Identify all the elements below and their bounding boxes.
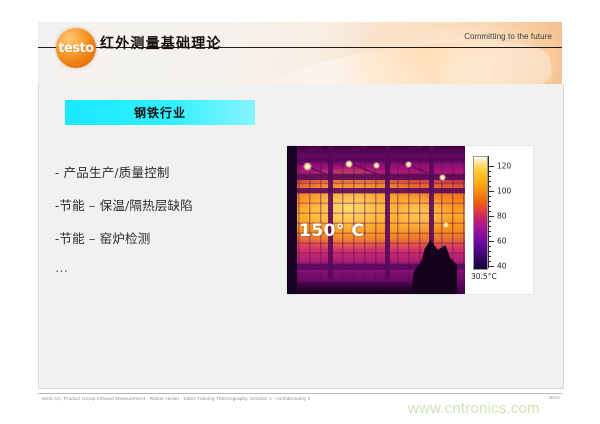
hot-spot	[373, 162, 380, 169]
scale-tick-label: 100	[497, 187, 511, 196]
scale-tick-major	[488, 241, 494, 242]
section-banner: 钢铁行业	[65, 100, 255, 125]
temperature-scale: 120 100 80 60	[465, 146, 533, 294]
logo-rule-left	[38, 47, 54, 48]
scale-tick-minor	[488, 261, 491, 262]
slide-header: Committing to the future testo	[38, 22, 562, 84]
list-item: …	[55, 261, 285, 276]
scale-tick-minor	[488, 246, 491, 247]
facade-column	[385, 146, 390, 278]
thermal-image: 150° C	[287, 146, 465, 294]
scale-tick-label: 80	[497, 212, 507, 221]
scale-tick-minor	[488, 221, 491, 222]
slide: Committing to the future testo 红外测量基础理论 …	[0, 0, 600, 424]
footer-page-number: 48/21	[549, 395, 561, 400]
scale-tick-minor	[488, 256, 491, 257]
list-item: -节能 – 保温/隔热层缺陷	[55, 195, 285, 214]
scale-tick-minor	[488, 226, 491, 227]
scale-tick-major	[488, 216, 494, 217]
scale-tick-label: 40	[497, 262, 507, 271]
testo-logo-icon: testo	[56, 28, 96, 68]
facade-column	[328, 146, 333, 278]
hot-spot	[439, 174, 446, 181]
footer-divider	[38, 393, 562, 394]
thermal-image-figure: 150° C 120 100 80	[287, 146, 533, 294]
slide-body: 钢铁行业 - 产品生产/质量控制 -节能 – 保温/隔热层缺陷 -节能 – 窑炉…	[38, 84, 564, 389]
brand-tagline: Committing to the future	[464, 32, 552, 41]
list-item: -节能 – 窑炉检测	[55, 228, 285, 247]
hot-spot	[443, 222, 449, 228]
scale-tick-minor	[488, 171, 491, 172]
scale-tick-minor	[488, 206, 491, 207]
bullet-list: - 产品生产/质量控制 -节能 – 保温/隔热层缺陷 -节能 – 窑炉检测 …	[55, 162, 285, 290]
page-title: 红外测量基础理论	[100, 33, 222, 53]
foreground-silhouette	[287, 146, 297, 294]
scale-tick-minor	[488, 176, 491, 177]
scale-tick-label: 60	[497, 237, 507, 246]
temperature-annotation: 150° C	[299, 221, 364, 241]
scale-tick-minor	[488, 181, 491, 182]
scale-tick-minor	[488, 211, 491, 212]
scale-tick-major	[488, 266, 494, 267]
scale-tick-minor	[488, 236, 491, 237]
scale-tick-major	[488, 191, 494, 192]
foreground-ground	[295, 282, 415, 294]
scale-tick-minor	[488, 196, 491, 197]
scale-tick-minor	[488, 231, 491, 232]
facade-beam	[287, 188, 465, 193]
scale-tick-minor	[488, 201, 491, 202]
scale-tick-major	[488, 166, 494, 167]
scale-min-label: 30.5°C	[471, 272, 497, 281]
watermark: www.cntronics.com	[408, 400, 540, 417]
color-scale-bar	[473, 156, 488, 270]
hot-spot	[303, 162, 312, 171]
section-banner-label: 钢铁行业	[134, 104, 186, 121]
logo-wordmark: testo	[58, 41, 93, 56]
footer-credit: testo AG, Product Group Infrared Measure…	[42, 396, 310, 401]
list-item: - 产品生产/质量控制	[55, 162, 285, 181]
hot-spot	[345, 160, 353, 168]
scale-tick-minor	[488, 251, 491, 252]
hot-spot	[405, 161, 412, 168]
scale-tick-label: 120	[497, 162, 511, 171]
scale-tick-minor	[488, 186, 491, 187]
